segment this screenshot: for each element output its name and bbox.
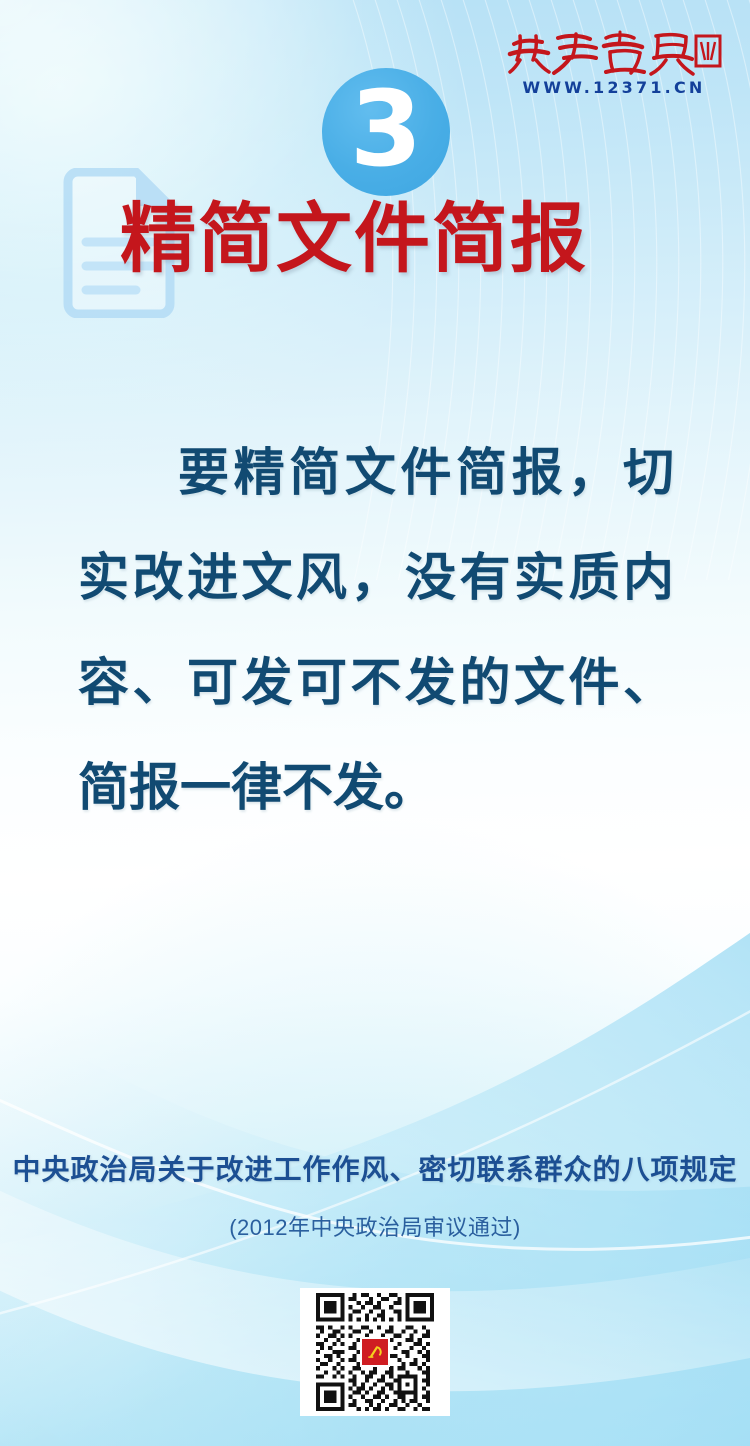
gongchandangyuanwang-logo-icon <box>506 28 722 76</box>
body-paragraph: 要精简文件简报，切实改进文风，没有实质内容、可发可不发的文件、简报一律不发。 <box>78 420 674 840</box>
party-emblem-icon <box>360 1337 390 1367</box>
site-url: WWW.12371.CN <box>506 80 722 96</box>
footer: 中央政治局关于改进工作作风、密切联系群众的八项规定 (2012年中央政治局审议通… <box>0 1148 750 1242</box>
footer-title: 中央政治局关于改进工作作风、密切联系群众的八项规定 <box>0 1148 750 1188</box>
page-title: 精简文件简报 <box>120 202 588 278</box>
step-number: 3 <box>350 77 422 181</box>
hammer-sickle-glyph <box>365 1342 385 1362</box>
qr-code[interactable] <box>300 1288 450 1416</box>
step-number-badge: 3 <box>322 68 450 196</box>
site-logo[interactable]: WWW.12371.CN <box>506 28 722 96</box>
footer-subtitle: (2012年中央政治局审议通过) <box>0 1210 750 1242</box>
poster-canvas: WWW.12371.CN 3 精简文件简报 要精简文件简报，切实改进文风，没有实… <box>0 0 750 1446</box>
